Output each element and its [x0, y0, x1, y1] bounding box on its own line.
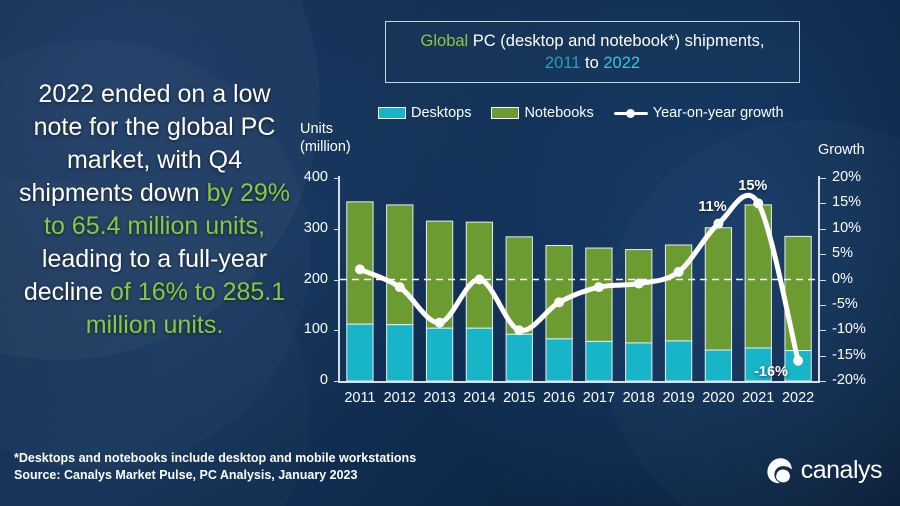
chart-title-segment: 2011 — [545, 54, 580, 72]
canalys-swoosh-icon — [765, 456, 794, 485]
growth-marker-2015 — [514, 325, 524, 335]
y2-axis-tick-label: -15% — [832, 347, 886, 363]
chart-legend: DesktopsNotebooksYear-on-year growth — [378, 103, 818, 123]
y-axis-tick — [334, 381, 340, 382]
y-axis-tick-label: 0 — [288, 372, 328, 388]
square-swatch-icon — [378, 107, 406, 119]
y2-axis-tick-label: 5% — [832, 245, 886, 261]
growth-marker-2014 — [474, 275, 484, 285]
y2-axis-tick-label: -10% — [832, 321, 886, 337]
y2-axis-tick — [820, 254, 826, 255]
bar-notebooks-2011 — [347, 202, 373, 324]
growth-marker-2017 — [594, 282, 604, 292]
bar-desktops-2019 — [665, 341, 691, 381]
bar-desktops-2013 — [426, 328, 452, 381]
bar-desktops-2020 — [705, 350, 731, 381]
bar-desktops-2017 — [586, 341, 612, 381]
legend-label: Desktops — [411, 105, 471, 121]
x-axis-label: 2016 — [539, 390, 579, 406]
y-axis-title: Units (million) — [300, 120, 351, 156]
y2-axis-tick — [820, 229, 826, 230]
x-axis-label: 2020 — [699, 390, 739, 406]
x-axis-label: 2011 — [340, 390, 380, 406]
y-axis-tick-label: 200 — [288, 271, 328, 287]
line-marker-icon — [614, 107, 648, 119]
x-axis-label: 2013 — [420, 390, 460, 406]
growth-marker-2013 — [435, 318, 445, 328]
chart-title-box: Global PC (desktop and notebook*) shipme… — [385, 21, 800, 83]
legend-label: Notebooks — [524, 105, 593, 121]
growth-value-label-2021: 15% — [738, 178, 767, 194]
y2-axis-title: Growth — [818, 142, 865, 158]
x-axis-label: 2022 — [778, 390, 818, 406]
y2-axis-tick-label: 0% — [832, 271, 886, 287]
footnote-source: Source: Canalys Market Pulse, PC Analysi… — [14, 467, 416, 484]
y2-axis-tick-label: 15% — [832, 194, 886, 210]
bar-desktops-2015 — [506, 334, 532, 381]
chart-title-segment: PC (desktop and notebook*) shipments, — [468, 32, 764, 50]
bar-notebooks-2012 — [387, 205, 413, 325]
bar-notebooks-2016 — [546, 245, 572, 338]
growth-marker-2021 — [753, 198, 763, 208]
growth-marker-2011 — [355, 264, 365, 274]
legend-label: Year-on-year growth — [653, 105, 784, 121]
y2-axis-tick — [820, 356, 826, 357]
logo-wordmark: canalys — [801, 456, 882, 485]
x-axis-label: 2017 — [579, 390, 619, 406]
y2-axis-tick-label: -5% — [832, 296, 886, 312]
chart-title-line: Global PC (desktop and notebook*) shipme… — [421, 30, 765, 52]
y2-axis-tick — [820, 381, 826, 382]
growth-line — [360, 195, 798, 360]
y2-axis-tick-label: -20% — [832, 372, 886, 388]
bar-notebooks-2020 — [705, 228, 731, 350]
x-axis-label: 2021 — [738, 390, 778, 406]
bar-desktops-2018 — [626, 343, 652, 381]
growth-marker-2022 — [793, 356, 803, 366]
growth-marker-2012 — [395, 282, 405, 292]
plot-area — [340, 178, 818, 381]
bar-notebooks-2018 — [626, 250, 652, 343]
y2-axis-tick — [820, 305, 826, 306]
y2-axis-tick-label: 20% — [832, 169, 886, 185]
growth-marker-2016 — [554, 297, 564, 307]
headline-accent-text: of 16% to 285.1 million units. — [86, 278, 285, 339]
growth-value-label-2022: -16% — [754, 364, 788, 380]
growth-marker-2018 — [634, 279, 644, 289]
y-axis-title-line2: (million) — [300, 138, 351, 156]
chart-title-line: 2011 to 2022 — [421, 52, 765, 74]
bar-notebooks-2017 — [586, 248, 612, 341]
chart-title-segment: 2022 — [603, 54, 640, 72]
square-swatch-icon — [491, 107, 519, 119]
x-axis-label: 2015 — [499, 390, 539, 406]
canalys-logo: canalys — [765, 456, 882, 485]
y-axis-tick-label: 300 — [288, 220, 328, 236]
legend-item-notebooks[interactable]: Notebooks — [491, 105, 593, 121]
headline-text: 2022 ended on a low note for the global … — [12, 78, 297, 342]
footnote: *Desktops and notebooks include desktop … — [14, 450, 416, 484]
x-axis-label: 2018 — [619, 390, 659, 406]
infographic-canvas: 2022 ended on a low note for the global … — [0, 0, 900, 506]
x-axis-label: 2019 — [659, 390, 699, 406]
y-axis-tick-label: 400 — [288, 169, 328, 185]
bar-desktops-2012 — [387, 325, 413, 381]
x-axis-label: 2014 — [460, 390, 500, 406]
y2-axis-tick — [820, 280, 826, 281]
bar-desktops-2011 — [347, 324, 373, 381]
growth-marker-2019 — [674, 267, 684, 277]
y2-axis-tick-label: 10% — [832, 220, 886, 236]
y2-axis-tick — [820, 178, 826, 179]
chart-title-segment: to — [580, 54, 603, 72]
y-axis-tick-label: 100 — [288, 321, 328, 337]
chart-title-segment: Global — [421, 32, 469, 50]
chart-canvas — [340, 178, 818, 381]
chart-title: Global PC (desktop and notebook*) shipme… — [411, 30, 775, 74]
growth-value-label-2020: 11% — [698, 199, 726, 215]
y2-axis-tick — [820, 203, 826, 204]
y2-axis-tick — [820, 330, 826, 331]
x-axis-label: 2012 — [380, 390, 420, 406]
bar-desktops-2014 — [466, 328, 492, 381]
legend-item-desktops[interactable]: Desktops — [378, 105, 471, 121]
growth-marker-2020 — [713, 219, 723, 229]
footnote-line-1: *Desktops and notebooks include desktop … — [14, 450, 416, 467]
y-axis-title-line1: Units — [300, 120, 351, 138]
legend-item-year-on-year-growth[interactable]: Year-on-year growth — [614, 105, 784, 121]
bar-desktops-2016 — [546, 339, 572, 381]
bar-notebooks-2022 — [785, 236, 811, 350]
